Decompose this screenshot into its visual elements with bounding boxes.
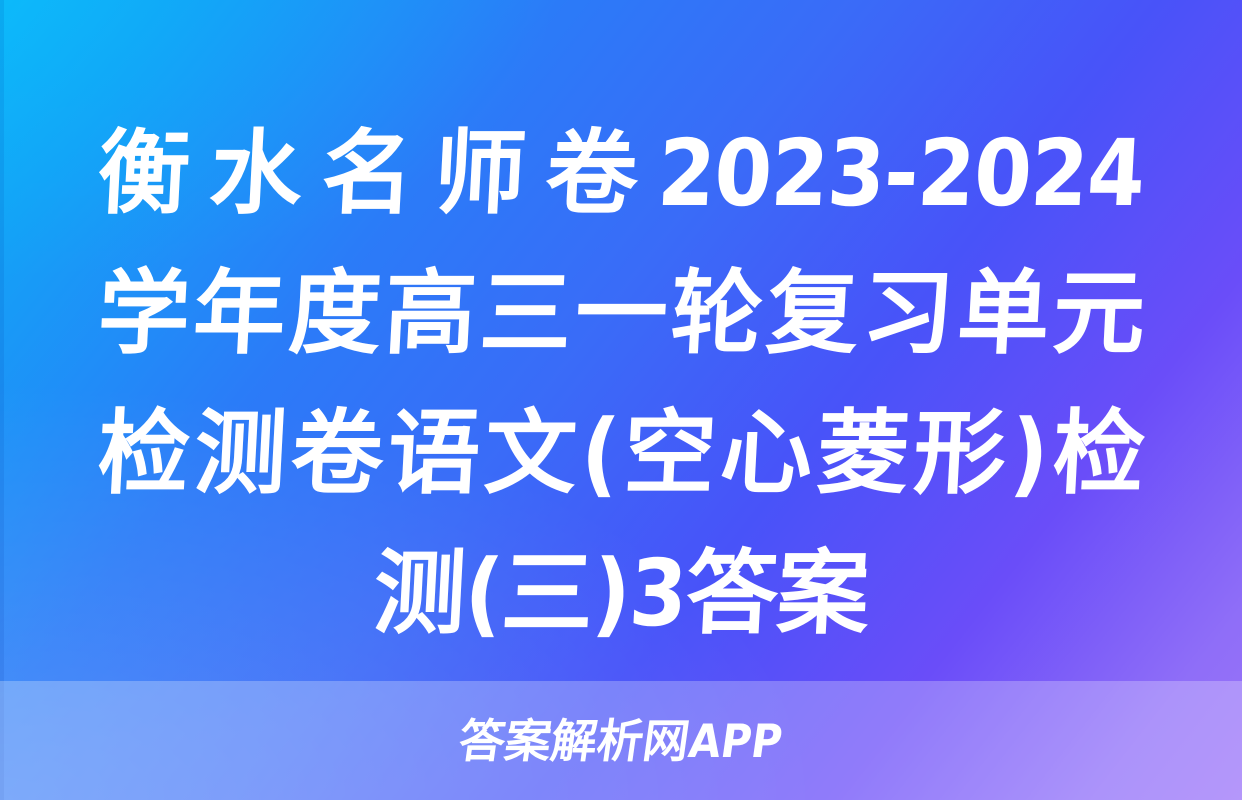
title-line-2: 学年度高三一轮复习单元 (94, 244, 1147, 384)
title-line-1: 衡水名师卷2023-2024 (94, 104, 1147, 244)
footer-watermark-label: 答案解析网APP (0, 705, 1242, 771)
answer-cover-poster: 衡水名师卷2023-2024 学年度高三一轮复习单元 检测卷语文(空心菱形)检 … (0, 0, 1242, 800)
title-line-4: 测(三)3答案 (94, 524, 1147, 664)
title-line-3: 检测卷语文(空心菱形)检 (94, 384, 1147, 524)
poster-title-block: 衡水名师卷2023-2024 学年度高三一轮复习单元 检测卷语文(空心菱形)检 … (0, 104, 1242, 664)
